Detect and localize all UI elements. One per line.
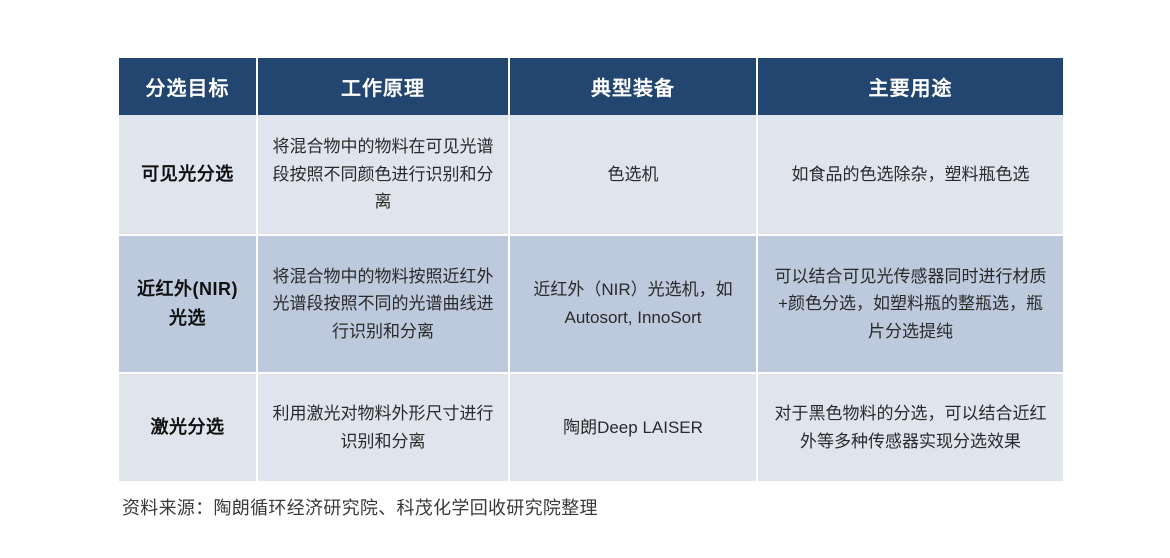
cell-main-usage: 对于黑色物料的分选，可以结合近红外等多种传感器实现分选效果: [757, 373, 1063, 481]
source-note: 资料来源：陶朗循环经济研究院、科茂化学回收研究院整理: [122, 494, 598, 520]
column-header-typical-equipment: 典型装备: [509, 58, 757, 115]
cell-working-principle: 利用激光对物料外形尺寸进行识别和分离: [257, 373, 509, 481]
table-header: 分选目标 工作原理 典型装备 主要用途: [119, 58, 1063, 115]
cell-typical-equipment: 色选机: [509, 115, 757, 235]
sorting-technology-table: 分选目标 工作原理 典型装备 主要用途 可见光分选 将混合物中的物料在可见光谱段…: [119, 58, 1063, 481]
cell-main-usage: 如食品的色选除杂，塑料瓶色选: [757, 115, 1063, 235]
cell-typical-equipment: 近红外（NIR）光选机，如Autosort, InnoSort: [509, 235, 757, 373]
column-header-sorting-target: 分选目标: [119, 58, 257, 115]
table-row: 可见光分选 将混合物中的物料在可见光谱段按照不同颜色进行识别和分离 色选机 如食…: [119, 115, 1063, 235]
cell-working-principle: 将混合物中的物料在可见光谱段按照不同颜色进行识别和分离: [257, 115, 509, 235]
slide-page: 分选目标 工作原理 典型装备 主要用途 可见光分选 将混合物中的物料在可见光谱段…: [0, 0, 1170, 558]
table-header-row: 分选目标 工作原理 典型装备 主要用途: [119, 58, 1063, 115]
cell-typical-equipment: 陶朗Deep LAISER: [509, 373, 757, 481]
cell-sorting-target: 近红外(NIR)光选: [119, 235, 257, 373]
cell-working-principle: 将混合物中的物料按照近红外光谱段按照不同的光谱曲线进行识别和分离: [257, 235, 509, 373]
table-row: 激光分选 利用激光对物料外形尺寸进行识别和分离 陶朗Deep LAISER 对于…: [119, 373, 1063, 481]
column-header-working-principle: 工作原理: [257, 58, 509, 115]
table-body: 可见光分选 将混合物中的物料在可见光谱段按照不同颜色进行识别和分离 色选机 如食…: [119, 115, 1063, 481]
sorting-technology-table-container: 分选目标 工作原理 典型装备 主要用途 可见光分选 将混合物中的物料在可见光谱段…: [119, 58, 1063, 481]
cell-sorting-target: 激光分选: [119, 373, 257, 481]
table-row: 近红外(NIR)光选 将混合物中的物料按照近红外光谱段按照不同的光谱曲线进行识别…: [119, 235, 1063, 373]
cell-sorting-target: 可见光分选: [119, 115, 257, 235]
column-header-main-usage: 主要用途: [757, 58, 1063, 115]
cell-main-usage: 可以结合可见光传感器同时进行材质+颜色分选，如塑料瓶的整瓶选，瓶片分选提纯: [757, 235, 1063, 373]
